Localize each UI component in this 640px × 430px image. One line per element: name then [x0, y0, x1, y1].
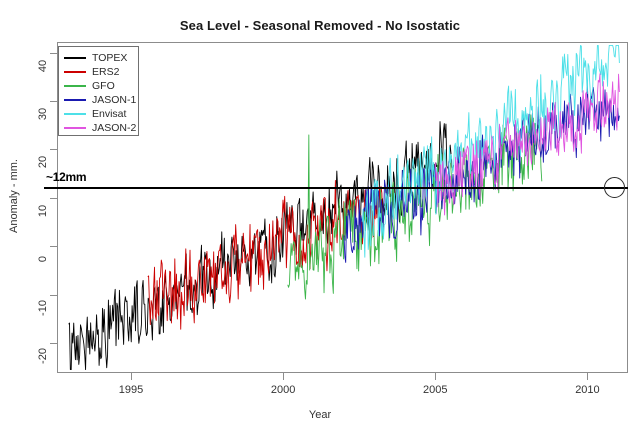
- y-axis-tick-label: 10: [37, 196, 49, 226]
- y-axis-tick-mark: [50, 295, 57, 296]
- legend-item: ERS2: [59, 65, 138, 79]
- legend-item: TOPEX: [59, 51, 138, 65]
- legend-label-gfo: GFO: [92, 81, 115, 92]
- y-axis-tick-mark: [50, 246, 57, 247]
- y-axis-tick-mark: [50, 101, 57, 102]
- legend-swatch-ers2: [64, 71, 86, 73]
- y-axis-tick-label: -10: [37, 293, 49, 323]
- legend-item: GFO: [59, 79, 138, 93]
- legend-swatch-envisat: [64, 113, 86, 115]
- series-canvas: [58, 43, 627, 372]
- legend-item: JASON-1: [59, 93, 138, 107]
- y-axis-tick-label: 0: [37, 244, 49, 274]
- legend-swatch-topex: [64, 57, 86, 59]
- reference-line-12mm: [57, 187, 628, 189]
- legend-label-envisat: Envisat: [92, 109, 126, 120]
- plot-area: [57, 42, 628, 373]
- y-axis-tick-label: -20: [37, 341, 49, 371]
- x-axis-tick-mark: [283, 373, 284, 380]
- y-axis-tick-label: 40: [37, 51, 49, 81]
- chart-title: Sea Level - Seasonal Removed - No Isosta…: [0, 18, 640, 33]
- series-line-envisat: [362, 45, 619, 257]
- y-axis-tick-mark: [50, 53, 57, 54]
- x-axis-tick-mark: [587, 373, 588, 380]
- legend-label-ers2: ERS2: [92, 67, 119, 78]
- x-axis-title: Year: [0, 409, 640, 421]
- y-axis-tick-label: 30: [37, 99, 49, 129]
- reference-line-stub: [44, 187, 58, 189]
- chart-page: Sea Level - Seasonal Removed - No Isosta…: [0, 0, 640, 430]
- legend-swatch-jason-2: [64, 127, 86, 129]
- x-axis-tick-mark: [131, 373, 132, 380]
- legend-label-jason-1: JASON-1: [92, 95, 136, 106]
- legend-label-topex: TOPEX: [92, 53, 127, 64]
- x-axis-tick-label: 2010: [567, 384, 607, 396]
- y-axis-tick-mark: [50, 149, 57, 150]
- legend-item: Envisat: [59, 107, 138, 121]
- y-axis-title: Anomaly - mm.: [8, 136, 20, 256]
- y-axis-tick-mark: [50, 343, 57, 344]
- reference-line-end-circle-marker: [604, 177, 625, 198]
- legend-swatch-jason-1: [64, 99, 86, 101]
- annotation-12mm-label: ~12mm: [46, 170, 86, 184]
- x-axis-tick-label: 2000: [263, 384, 303, 396]
- legend-swatch-gfo: [64, 85, 86, 87]
- legend-label-jason-2: JASON-2: [92, 123, 136, 134]
- x-axis-tick-label: 2005: [415, 384, 455, 396]
- chart-legend: TOPEX ERS2 GFO JASON-1 Envisat JASON-2: [58, 46, 139, 136]
- y-axis-tick-mark: [50, 198, 57, 199]
- legend-item: JASON-2: [59, 121, 138, 135]
- x-axis-tick-mark: [435, 373, 436, 380]
- x-axis-tick-label: 1995: [111, 384, 151, 396]
